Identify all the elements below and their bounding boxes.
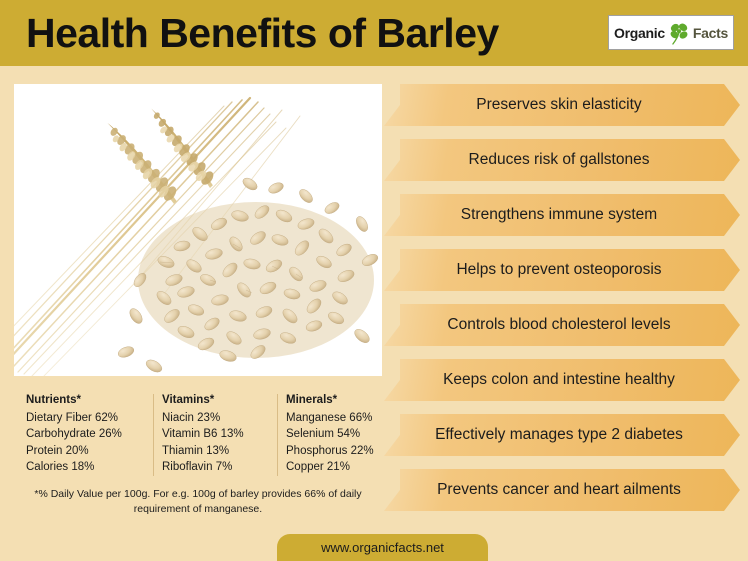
organic-facts-logo[interactable]: Organic Facts [608, 15, 734, 50]
logo-organic-text: Organic [614, 25, 665, 41]
benefit-label: Helps to prevent osteoporosis [384, 249, 740, 291]
benefit-arrow[interactable]: Helps to prevent osteoporosis [384, 249, 740, 291]
nutrition-divider-2 [277, 394, 278, 476]
nutrition-item: Manganese 66% [286, 410, 374, 427]
benefit-arrow[interactable]: Controls blood cholesterol levels [384, 304, 740, 346]
logo-facts-text: Facts [693, 25, 728, 41]
nutrition-heading: Minerals* [286, 392, 374, 409]
nutrition-item: Selenium 54% [286, 426, 374, 443]
benefit-label: Controls blood cholesterol levels [384, 304, 740, 346]
nutrition-column-minerals: Minerals* Manganese 66% Selenium 54% Pho… [286, 392, 374, 476]
benefit-label: Reduces risk of gallstones [384, 139, 740, 181]
nutrition-heading: Nutrients* [26, 392, 122, 409]
benefit-label: Prevents cancer and heart ailments [384, 469, 740, 511]
benefit-arrow[interactable]: Effectively manages type 2 diabetes [384, 414, 740, 456]
nutrition-item: Calories 18% [26, 459, 122, 476]
barley-photo [14, 84, 382, 376]
nutrition-divider-1 [153, 394, 154, 476]
benefit-label: Keeps colon and intestine healthy [384, 359, 740, 401]
benefits-list: Preserves skin elasticity Reduces risk o… [384, 84, 742, 526]
footer-url-text: www.organicfacts.net [321, 540, 444, 555]
nutrition-item: Dietary Fiber 62% [26, 410, 122, 427]
nutrition-item: Phosphorus 22% [286, 443, 374, 460]
benefit-arrow[interactable]: Reduces risk of gallstones [384, 139, 740, 181]
nutrition-column-vitamins: Vitamins* Niacin 23% Vitamin B6 13% Thia… [162, 392, 244, 476]
nutrition-heading: Vitamins* [162, 392, 244, 409]
clover-icon [666, 20, 692, 46]
nutrition-item: Niacin 23% [162, 410, 244, 427]
footer-url-tab[interactable]: www.organicfacts.net [277, 534, 488, 561]
infographic-canvas: Health Benefits of Barley Organic Facts [0, 0, 748, 561]
benefit-arrow[interactable]: Preserves skin elasticity [384, 84, 740, 126]
nutrition-item: Thiamin 13% [162, 443, 244, 460]
nutrition-item: Copper 21% [286, 459, 374, 476]
benefit-label: Preserves skin elasticity [384, 84, 740, 126]
page-title: Health Benefits of Barley [26, 4, 499, 62]
nutrition-column-nutrients: Nutrients* Dietary Fiber 62% Carbohydrat… [26, 392, 122, 476]
benefit-label: Effectively manages type 2 diabetes [384, 414, 740, 456]
nutrition-item: Protein 20% [26, 443, 122, 460]
benefit-arrow[interactable]: Strengthens immune system [384, 194, 740, 236]
nutrition-item: Riboflavin 7% [162, 459, 244, 476]
nutrition-table: Nutrients* Dietary Fiber 62% Carbohydrat… [14, 392, 382, 478]
nutrition-item: Vitamin B6 13% [162, 426, 244, 443]
nutrition-item: Carbohydrate 26% [26, 426, 122, 443]
benefit-arrow[interactable]: Keeps colon and intestine healthy [384, 359, 740, 401]
benefit-label: Strengthens immune system [384, 194, 740, 236]
nutrition-footnote: *% Daily Value per 100g. For e.g. 100g o… [14, 487, 382, 517]
benefit-arrow[interactable]: Prevents cancer and heart ailments [384, 469, 740, 511]
